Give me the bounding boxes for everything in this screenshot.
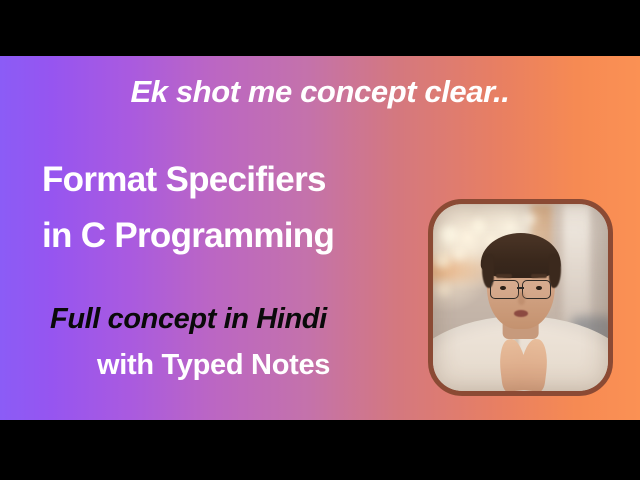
presenter-photo-frame <box>428 199 613 396</box>
presenter-figure <box>433 204 608 391</box>
text-column: Ek shot me concept clear.. Format Specif… <box>0 56 420 420</box>
subtitle-typed-notes: with Typed Notes <box>97 349 330 382</box>
eyeglass-bridge <box>517 287 524 289</box>
presenter-eyebrow-right <box>531 274 547 278</box>
subtitle-hindi: Full concept in Hindi <box>50 303 327 336</box>
tagline-text: Ek shot me concept clear.. <box>0 74 640 110</box>
presenter-photo <box>433 204 608 391</box>
presenter-eyebrow-left <box>496 274 512 278</box>
letterbox-bar-top <box>0 0 640 56</box>
video-thumbnail: Ek shot me concept clear.. Format Specif… <box>0 0 640 480</box>
gradient-background: Ek shot me concept clear.. Format Specif… <box>0 56 640 420</box>
letterbox-bar-bottom <box>0 420 640 480</box>
title-line-2: in C Programming <box>42 216 334 256</box>
title-line-1: Format Specifiers <box>42 160 326 200</box>
presenter-nose <box>518 292 525 305</box>
